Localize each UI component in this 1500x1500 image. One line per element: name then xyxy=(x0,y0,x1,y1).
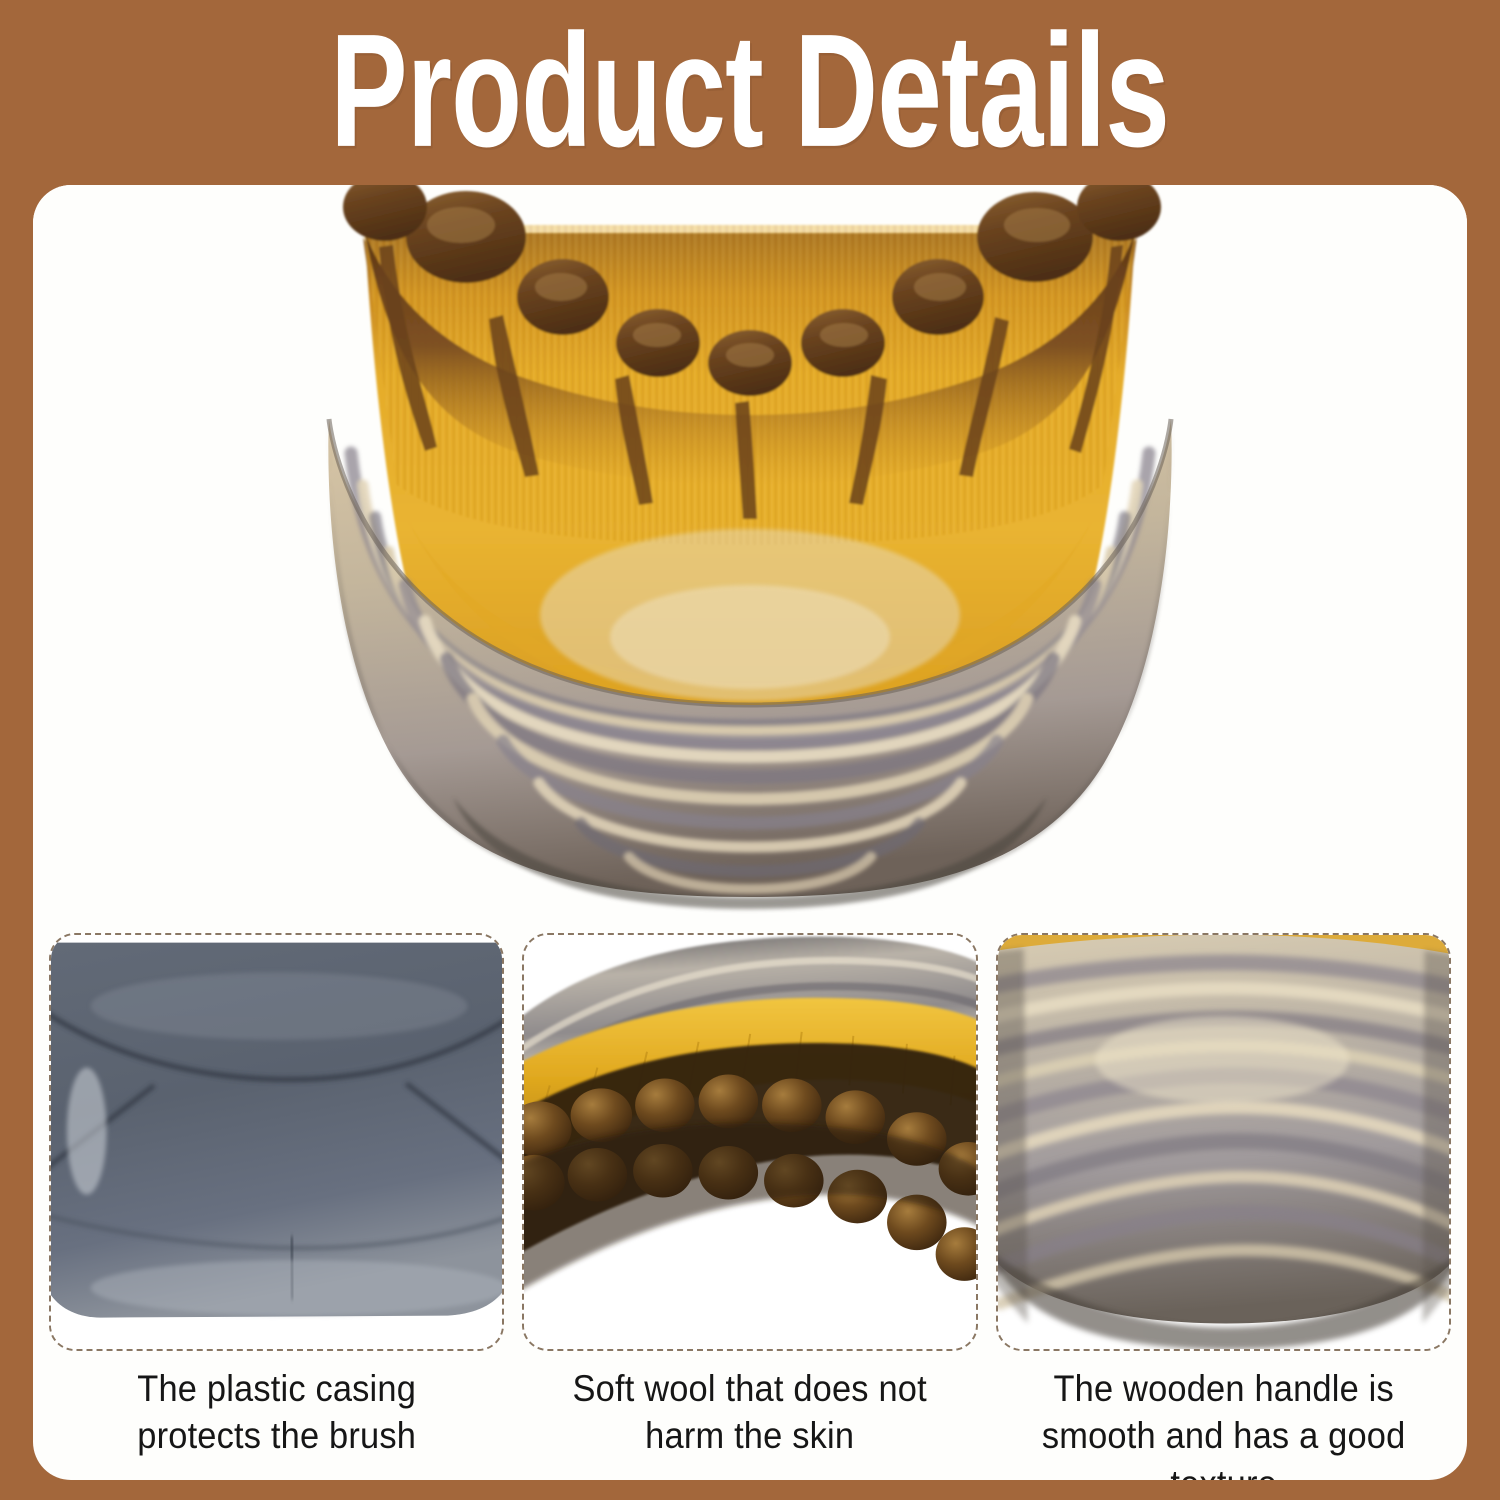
caption-soft-wool: Soft wool that does not harm the skin xyxy=(538,1365,961,1480)
wood-grain-illustration xyxy=(998,935,1449,1349)
hero-product-image xyxy=(33,185,1467,915)
title-banner: Product Details xyxy=(0,0,1500,185)
brush-illustration xyxy=(33,185,1467,915)
thumbnail-plastic-casing[interactable] xyxy=(49,933,504,1351)
product-details-page: Product Details xyxy=(0,0,1500,1500)
plastic-casing-illustration xyxy=(51,935,502,1349)
content-card: The plastic casing protects the brush So… xyxy=(33,185,1467,1480)
thumbnail-wooden-handle[interactable] xyxy=(996,933,1451,1351)
detail-thumbnail-row xyxy=(49,933,1451,1353)
thumbnail-soft-wool[interactable] xyxy=(522,933,977,1351)
page-title: Product Details xyxy=(331,10,1170,171)
caption-plastic-casing: The plastic casing protects the brush xyxy=(65,1365,488,1480)
bristle-tufts-illustration xyxy=(524,935,975,1349)
caption-row: The plastic casing protects the brush So… xyxy=(49,1365,1451,1480)
caption-wooden-handle: The wooden handle is smooth and has a go… xyxy=(1012,1365,1435,1480)
